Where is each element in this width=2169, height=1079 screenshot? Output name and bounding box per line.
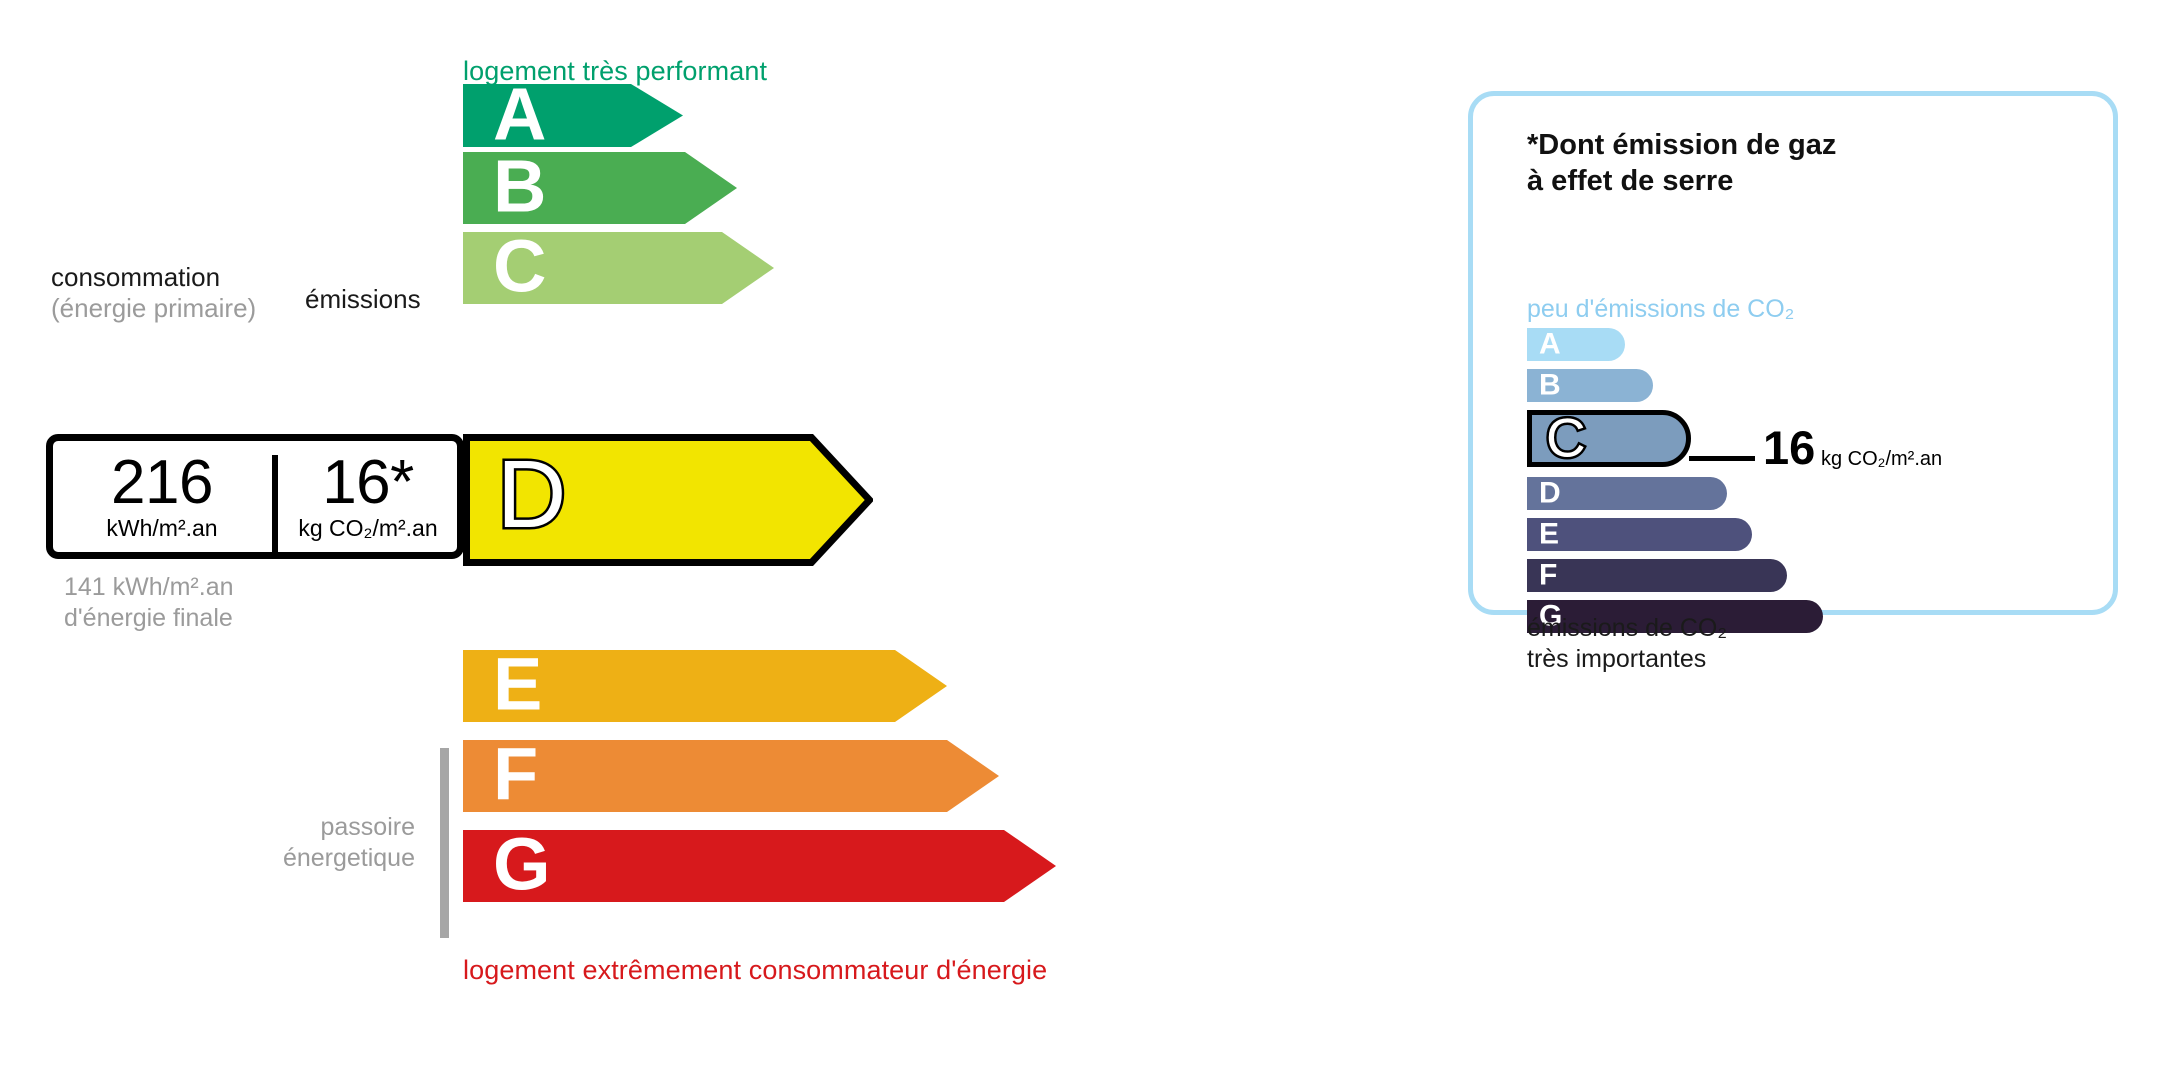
- energy-band-shape-f: [463, 740, 999, 812]
- co2-bar-letter-f: F: [1539, 560, 1557, 590]
- value-box: 216 kWh/m².an 16* kg CO₂/m².an: [46, 434, 464, 559]
- final-energy-note: 141 kWh/m².an d'énergie finale: [64, 572, 234, 633]
- co2-bar-e: E: [1527, 518, 1752, 551]
- final-energy-line1: 141 kWh/m².an: [64, 573, 234, 601]
- consumption-unit: kWh/m².an: [106, 515, 217, 542]
- energy-performance-panel: logement très performant ABCDEFG passoir…: [0, 0, 1400, 1079]
- energy-band-e: E: [463, 650, 947, 722]
- co2-callout-leader-line: [1689, 456, 1755, 461]
- energy-band-letter-c: C: [493, 230, 546, 304]
- co2-bar-a: A: [1527, 328, 1625, 361]
- energy-band-letter-e: E: [493, 648, 542, 722]
- energy-band-letter-a: A: [493, 77, 546, 151]
- dpe-label: logement très performant ABCDEFG passoir…: [0, 0, 2169, 1079]
- co2-callout-value: 16: [1763, 424, 1815, 471]
- energy-band-b: B: [463, 152, 737, 224]
- co2-panel-title: *Dont émission de gaz à effet de serre: [1527, 128, 1836, 200]
- energy-band-a: A: [463, 84, 683, 147]
- consumption-label: consommation (énergie primaire): [51, 262, 256, 323]
- energy-band-shape-g: [463, 830, 1056, 902]
- consumption-label-sub: (énergie primaire): [51, 293, 256, 323]
- co2-bar-letter-c: C: [1546, 410, 1586, 465]
- emissions-value: 16*: [322, 451, 414, 514]
- co2-title-line1: *Dont émission de gaz: [1527, 129, 1836, 161]
- emissions-label: émissions: [305, 284, 421, 315]
- consumption-label-main: consommation: [51, 262, 220, 292]
- energy-bottom-caption: logement extrêmement consommateur d'éner…: [463, 955, 1047, 986]
- emissions-value-cell: 16* kg CO₂/m².an: [273, 441, 463, 552]
- emissions-unit: kg CO₂/m².an: [298, 515, 437, 542]
- energy-band-c: C: [463, 232, 774, 304]
- energy-band-letter-f: F: [493, 738, 538, 812]
- energy-band-f: F: [463, 740, 999, 812]
- co2-bar-letter-e: E: [1539, 519, 1559, 549]
- consumption-value: 216: [111, 451, 213, 514]
- passoire-label-line1: passoire: [321, 813, 416, 841]
- energy-band-d: D: [463, 434, 866, 559]
- co2-bar-b: B: [1527, 369, 1653, 402]
- co2-bar-letter-a: A: [1539, 329, 1561, 359]
- co2-bottom-caption: émissions de CO₂ très importantes: [1527, 613, 1727, 674]
- co2-emission-panel: *Dont émission de gaz à effet de serre p…: [1468, 91, 2118, 615]
- co2-bar-f: F: [1527, 559, 1787, 592]
- co2-title-line2: à effet de serre: [1527, 165, 1733, 197]
- co2-bar-letter-d: D: [1539, 478, 1561, 508]
- co2-bar-letter-b: B: [1539, 370, 1561, 400]
- passoire-label-line2: énergetique: [283, 844, 415, 872]
- passoire-label: passoire énergetique: [170, 812, 415, 873]
- energy-band-letter-b: B: [493, 150, 546, 224]
- co2-bar-list: ABCDEFG: [1527, 328, 1823, 641]
- final-energy-line2: d'énergie finale: [64, 604, 233, 632]
- passoire-marker-bar: [440, 748, 449, 938]
- co2-callout-unit: kg CO₂/m².an: [1821, 448, 1942, 471]
- co2-bottom-caption-line2: très importantes: [1527, 645, 1706, 673]
- energy-band-letter-d: D: [497, 447, 566, 543]
- co2-top-caption: peu d'émissions de CO₂: [1527, 295, 1794, 324]
- co2-bar-c: C: [1527, 410, 1691, 467]
- co2-bottom-caption-line1: émissions de CO₂: [1527, 614, 1727, 642]
- consumption-value-cell: 216 kWh/m².an: [53, 441, 271, 552]
- energy-band-letter-g: G: [493, 828, 551, 902]
- co2-bar-d: D: [1527, 477, 1727, 510]
- energy-band-g: G: [463, 830, 1056, 902]
